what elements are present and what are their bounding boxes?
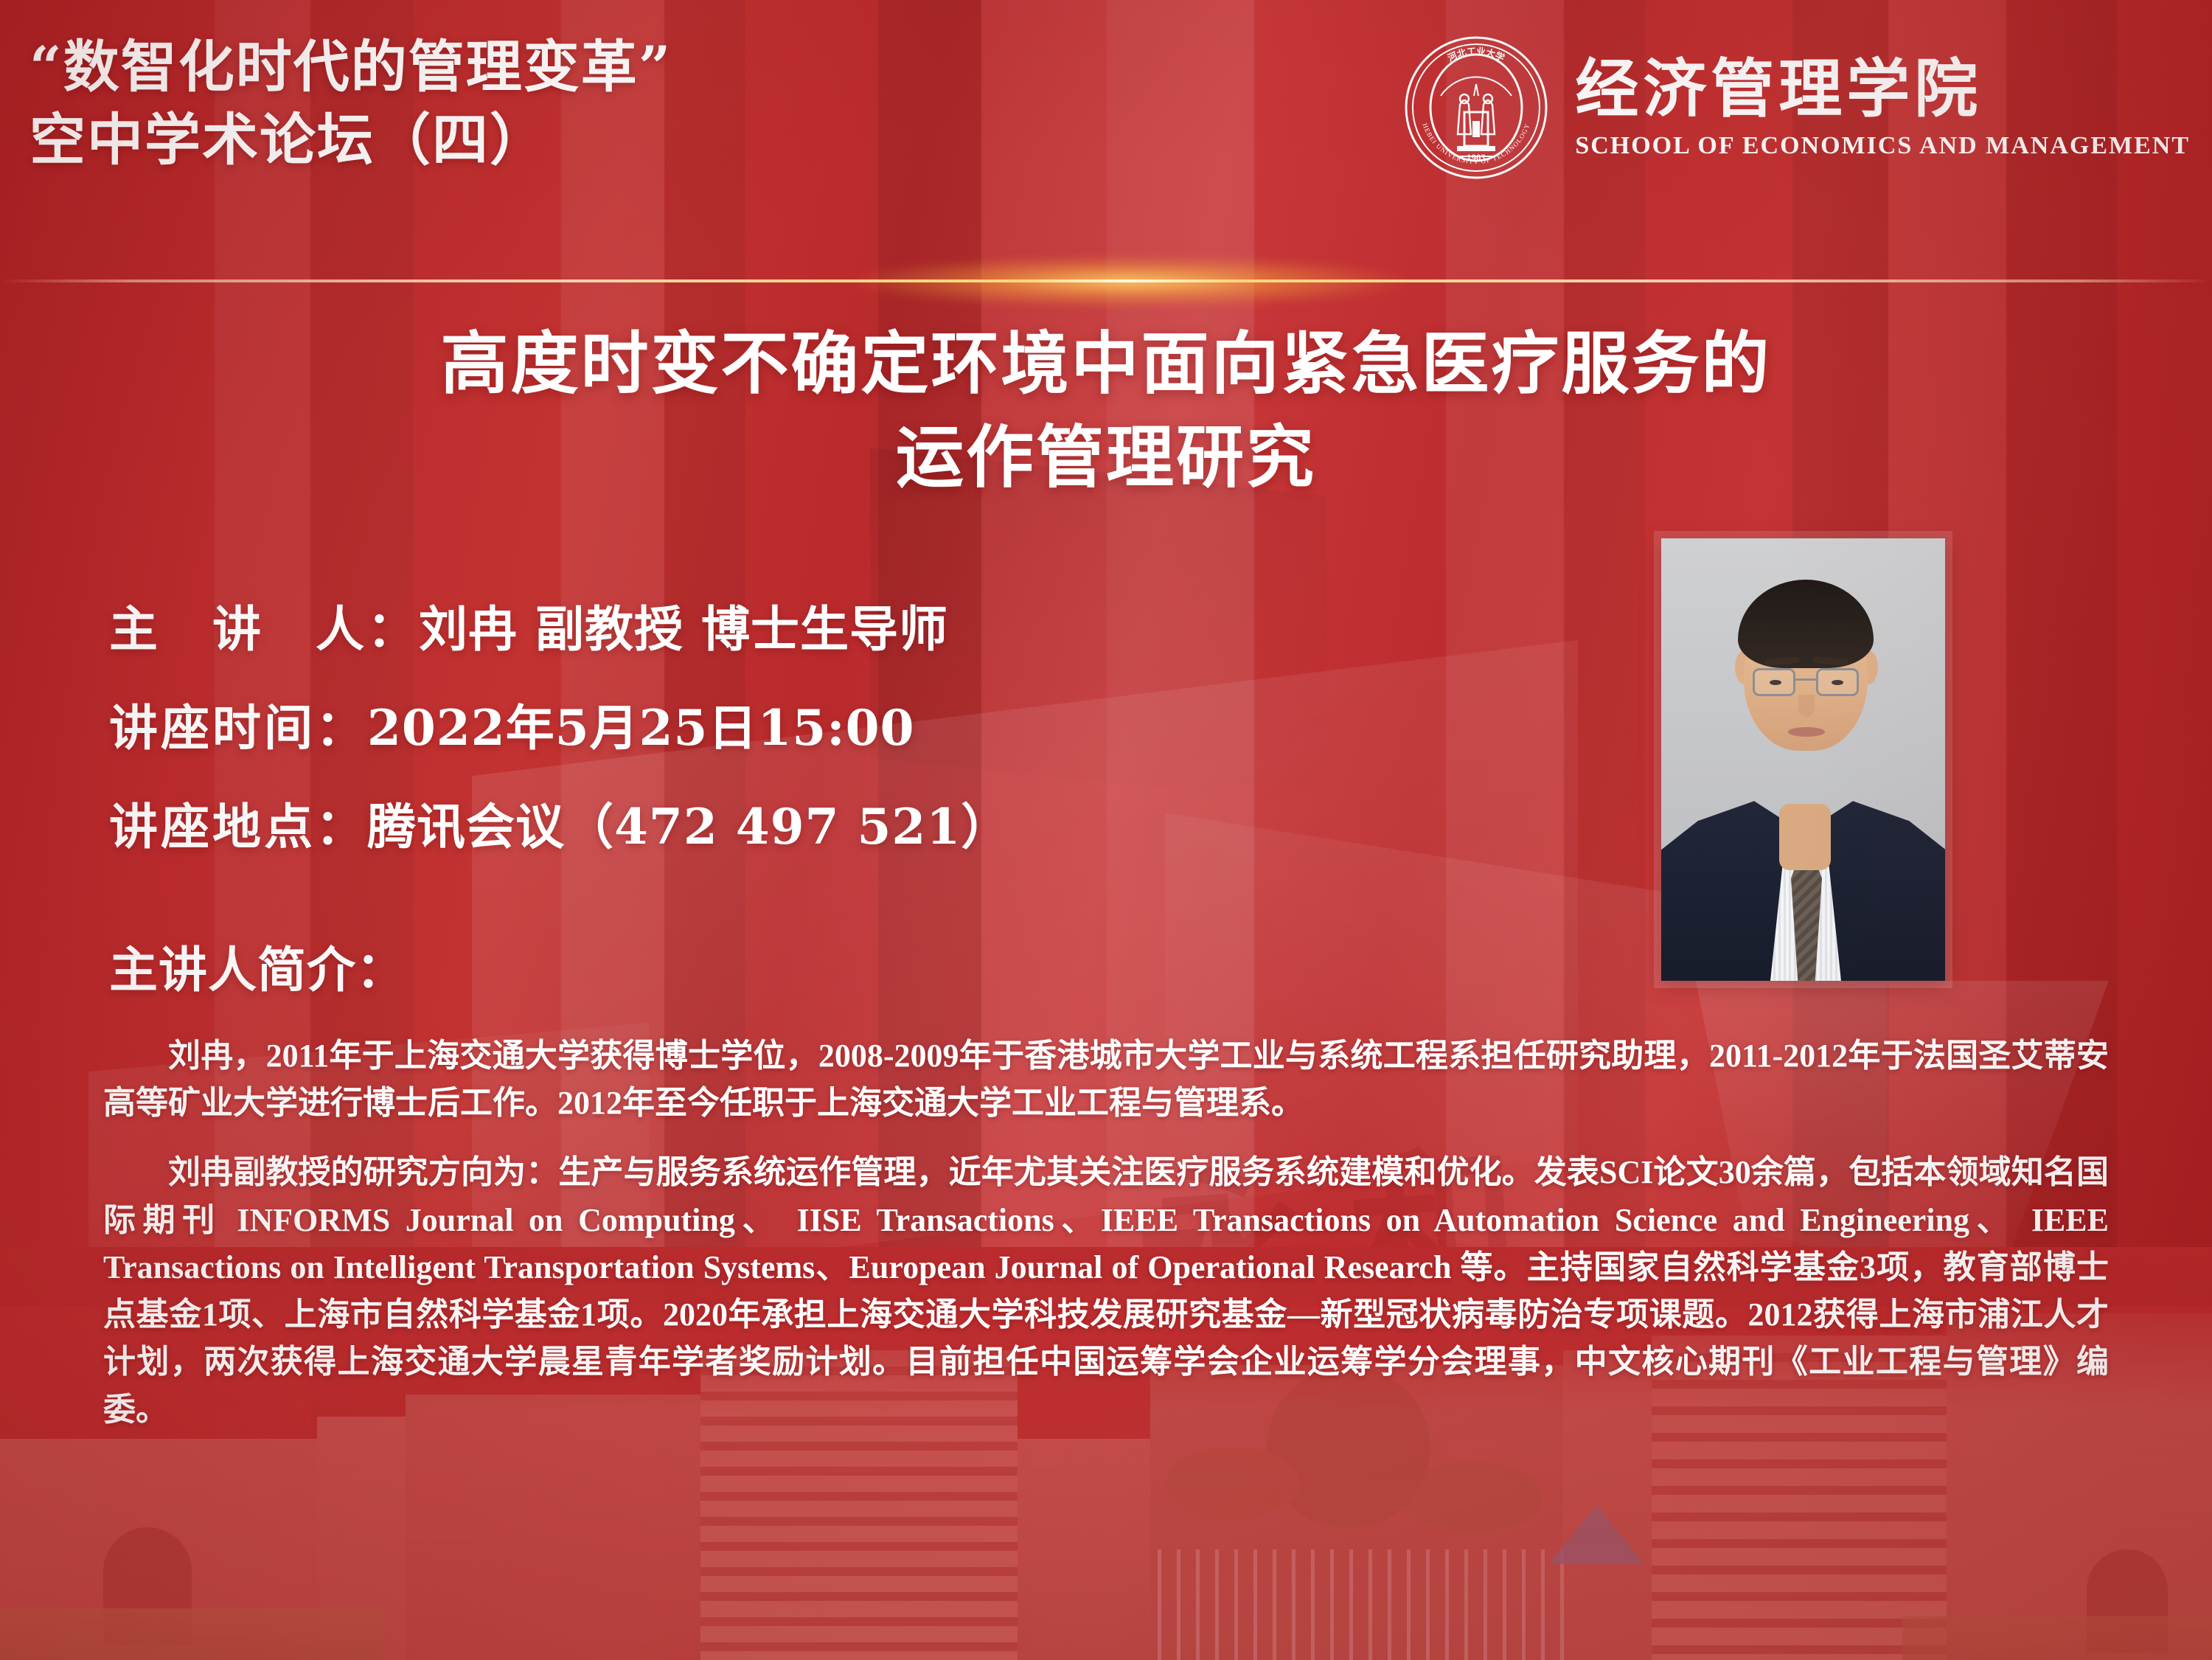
poster-root: 永和 “数智化时代的管理变革” 空中学术论坛（四） (0, 0, 2212, 1660)
poster-vignette (0, 0, 2212, 1660)
